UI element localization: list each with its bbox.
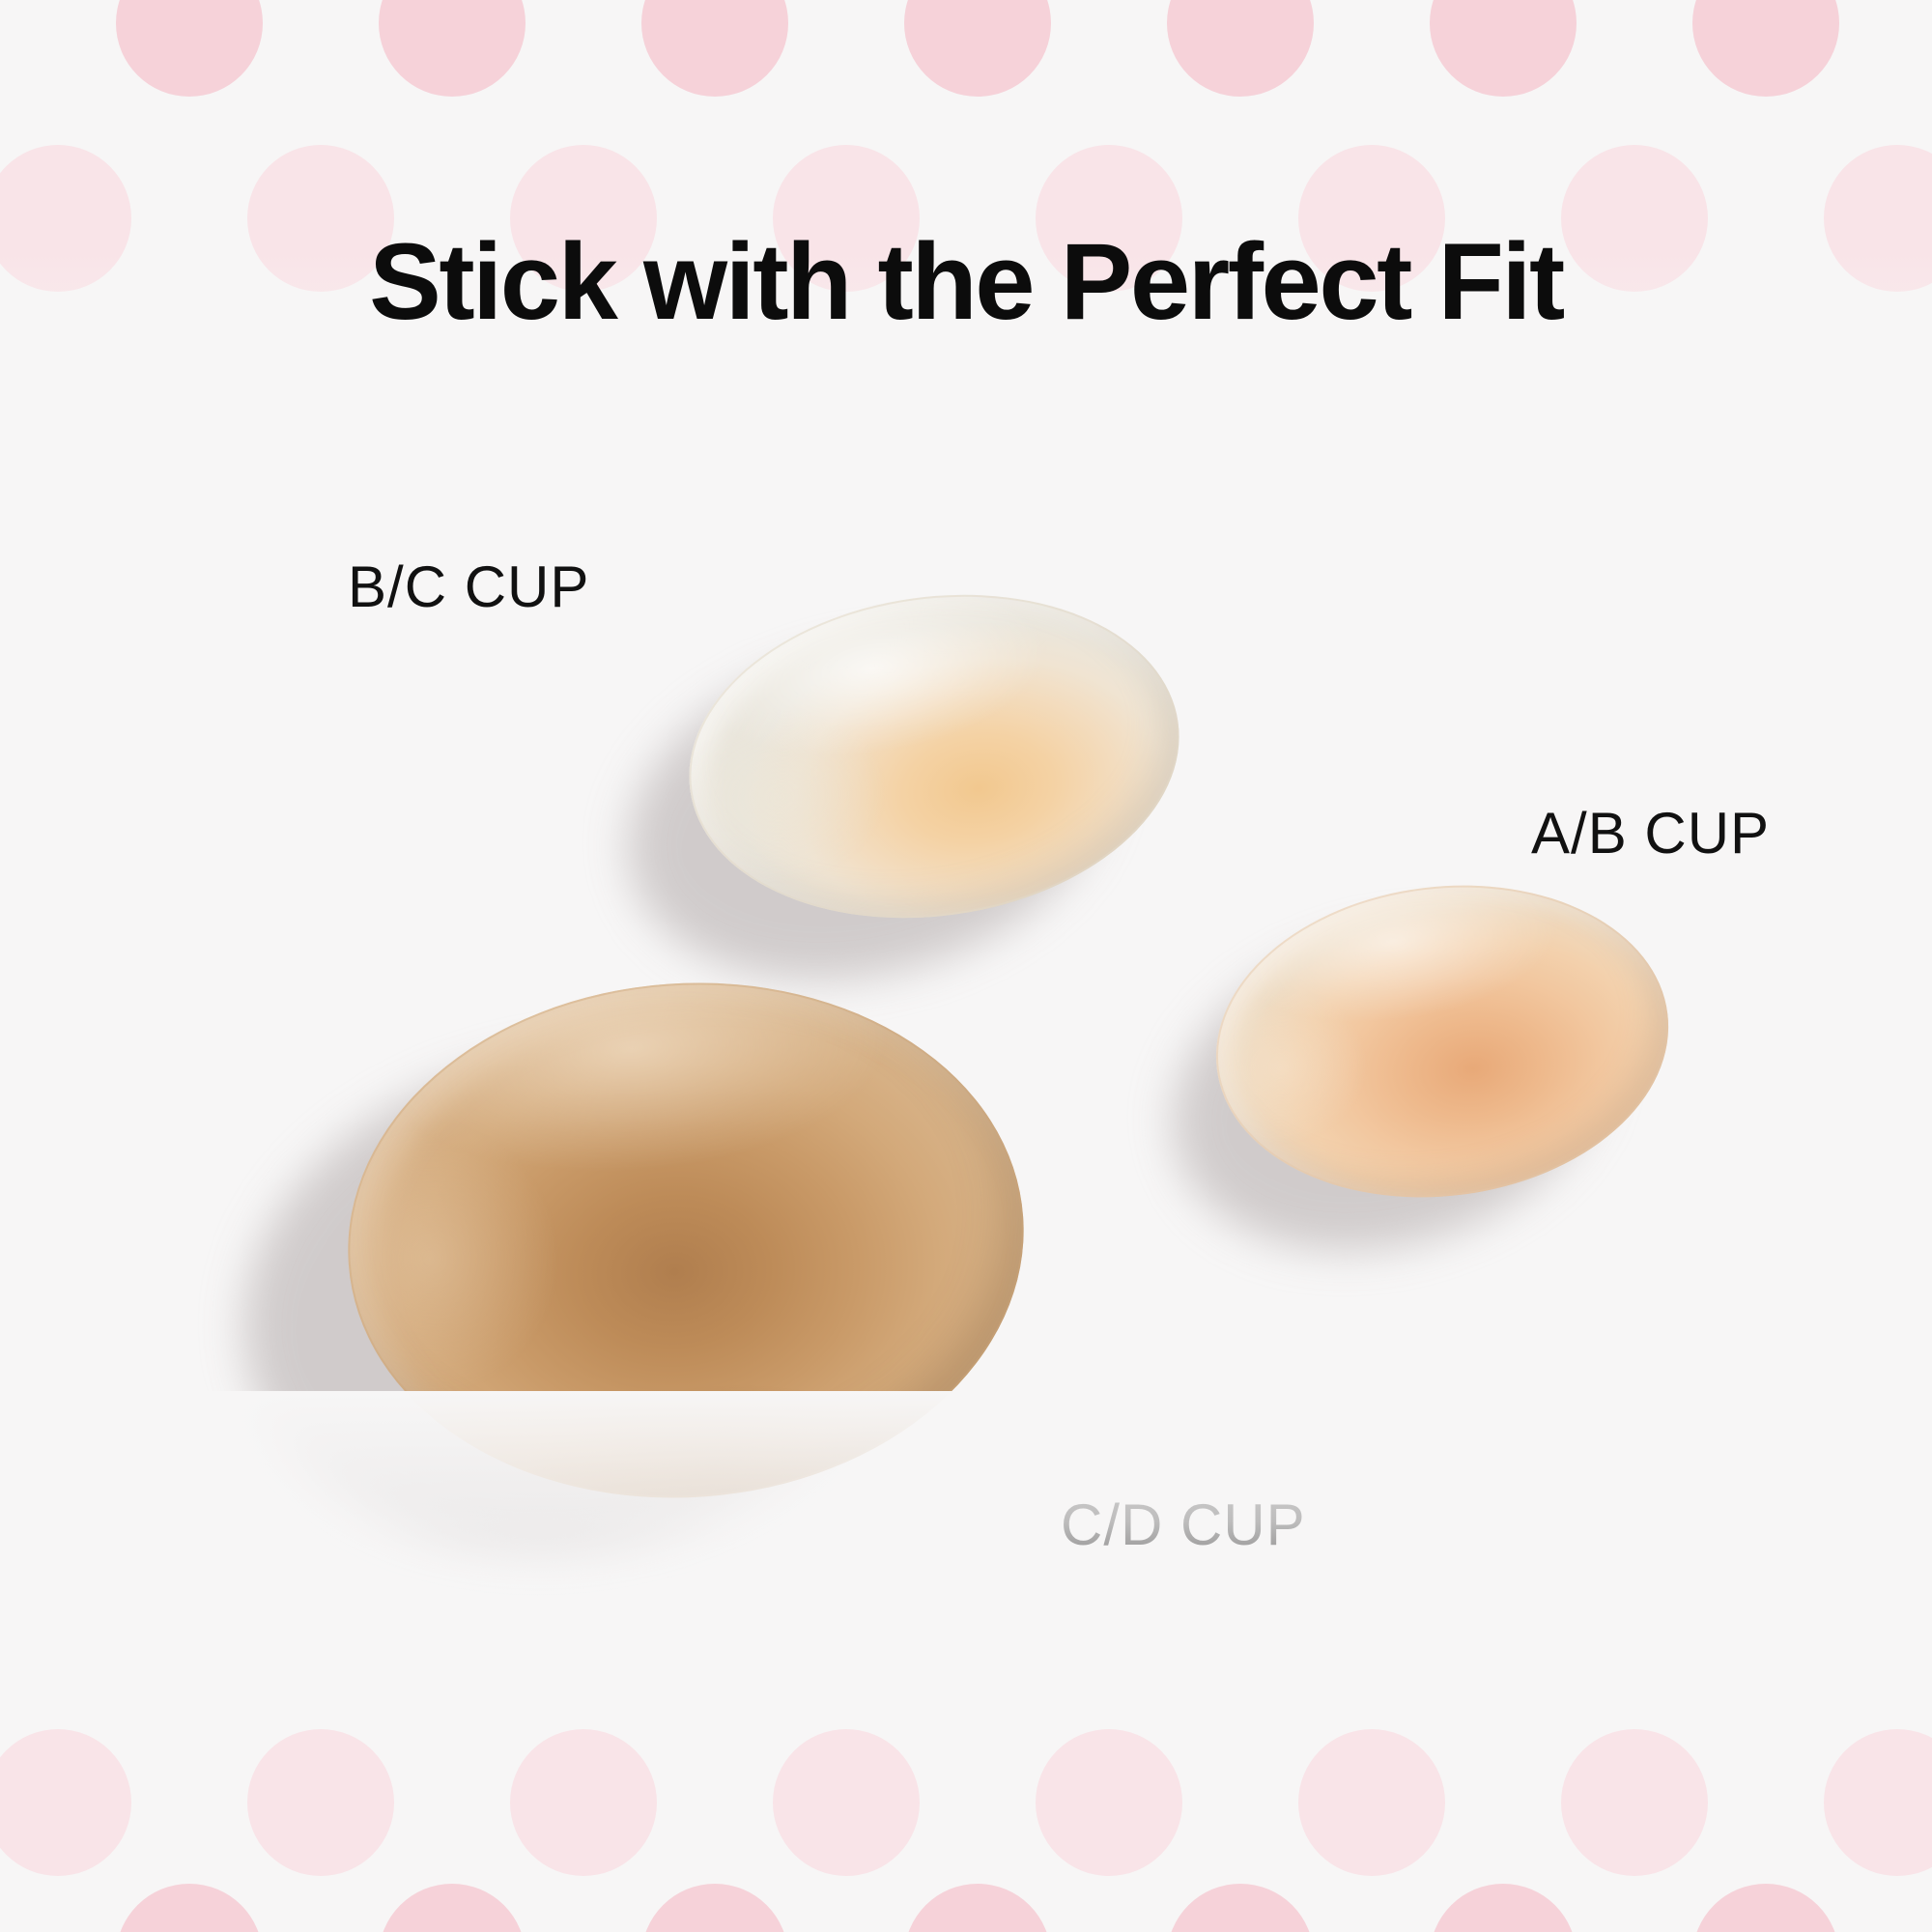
polka-dot	[1692, 0, 1839, 97]
polka-dot	[1824, 1729, 1932, 1876]
polka-dot	[904, 1884, 1051, 1932]
polka-dot	[116, 1884, 263, 1932]
product-cd-cup	[241, 966, 1111, 1604]
polka-dot	[1167, 1884, 1314, 1932]
polka-dot	[510, 1729, 657, 1876]
polka-dot	[1298, 1729, 1445, 1876]
promo-graphic: Stick with the Perfect Fit B/C CUP A/B C…	[0, 0, 1932, 1932]
size-label-ab-cup: A/B CUP	[1531, 805, 1770, 863]
polka-dot	[379, 1884, 526, 1932]
polka-dot	[1430, 0, 1577, 97]
polka-dot	[1692, 1884, 1839, 1932]
page-title: Stick with the Perfect Fit	[0, 228, 1932, 336]
product-ab-cup	[1169, 879, 1729, 1294]
polka-dot	[641, 1884, 788, 1932]
polka-dot	[904, 0, 1051, 97]
polka-dot	[1167, 0, 1314, 97]
polka-dot	[773, 1729, 920, 1876]
polka-dot	[0, 1729, 131, 1876]
polka-dot	[1036, 1729, 1182, 1876]
size-label-cd-cup: C/D CUP	[1061, 1496, 1306, 1554]
polka-dot	[1561, 1729, 1708, 1876]
product-bc-cup	[618, 580, 1236, 985]
polka-dot	[116, 0, 263, 97]
polka-dot	[1430, 1884, 1577, 1932]
polka-dot	[379, 0, 526, 97]
polka-dot	[247, 1729, 394, 1876]
polka-dot	[641, 0, 788, 97]
size-label-bc-cup: B/C CUP	[348, 558, 589, 616]
